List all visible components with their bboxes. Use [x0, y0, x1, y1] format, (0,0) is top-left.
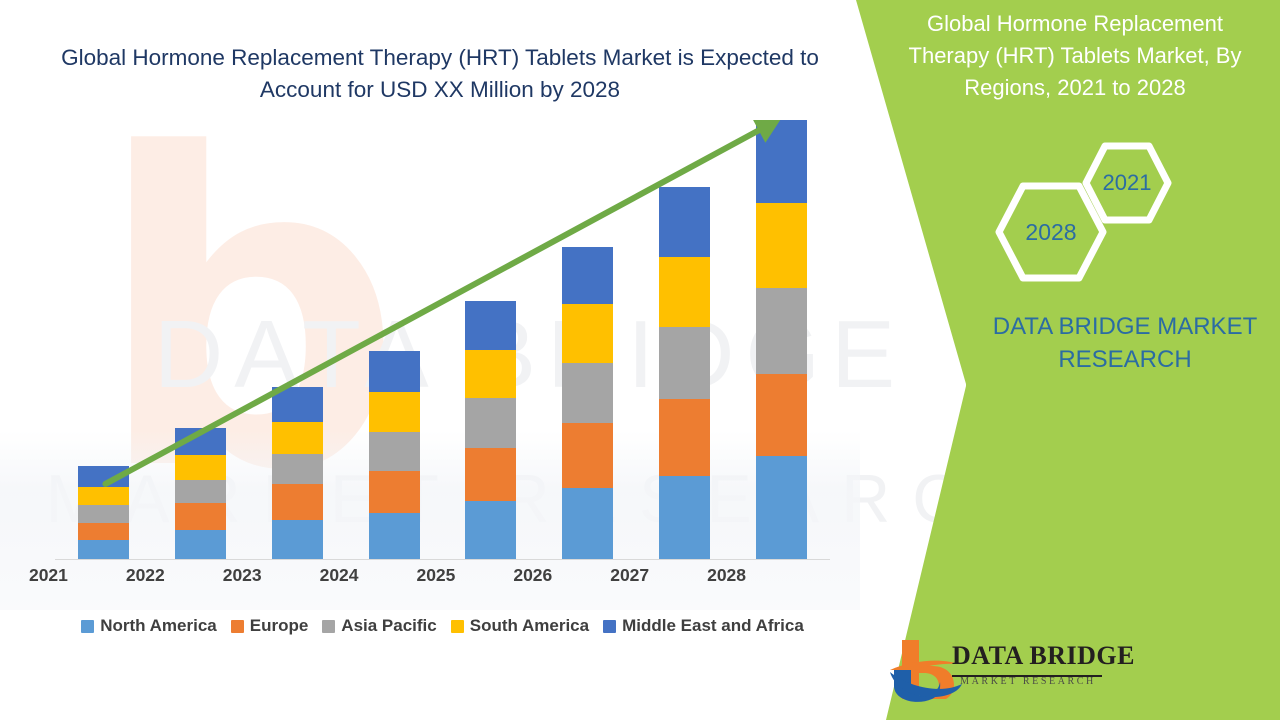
x-tick-2027: 2027: [581, 565, 678, 586]
bar-slot: [55, 120, 152, 559]
bar-segment: [369, 351, 420, 392]
bar-segment: [465, 448, 516, 501]
bar-segment: [659, 187, 710, 257]
bar-segment: [465, 350, 516, 398]
bar-segment: [78, 487, 129, 505]
bar-segment: [756, 288, 807, 374]
legend-item-middle-east-and-africa[interactable]: Middle East and Africa: [603, 616, 804, 636]
hexagon-label-2028: 2028: [1025, 219, 1076, 246]
legend-label: Middle East and Africa: [622, 616, 804, 636]
bar-segment: [272, 387, 323, 421]
x-tick-2022: 2022: [97, 565, 194, 586]
bar-segment: [562, 363, 613, 423]
bar-segment: [756, 456, 807, 559]
bar-segment: [465, 398, 516, 448]
bar-segment: [562, 488, 613, 559]
bar-segment: [562, 247, 613, 304]
legend-swatch-icon: [231, 620, 244, 633]
bar-segment: [272, 484, 323, 520]
legend-label: North America: [100, 616, 217, 636]
bar-slot: [443, 120, 540, 559]
stacked-bar-2027[interactable]: [659, 187, 710, 559]
bar-segment: [369, 471, 420, 513]
bar-segment: [756, 374, 807, 457]
bar-segment: [465, 301, 516, 350]
bar-segment: [78, 505, 129, 523]
bar-segment: [369, 513, 420, 559]
bar-segment: [562, 304, 613, 363]
x-tick-2021: 2021: [0, 565, 97, 586]
legend-swatch-icon: [322, 620, 335, 633]
bar-segment: [272, 454, 323, 485]
bar-segment: [175, 455, 226, 480]
bar-segment: [175, 480, 226, 504]
panel-title: Global Hormone Replacement Therapy (HRT)…: [885, 8, 1265, 104]
chart-title: Global Hormone Replacement Therapy (HRT)…: [40, 42, 840, 106]
legend-item-europe[interactable]: Europe: [231, 616, 309, 636]
legend-label: Asia Pacific: [341, 616, 436, 636]
x-tick-2028: 2028: [678, 565, 775, 586]
bar-segment: [756, 120, 807, 203]
bar-segment: [272, 520, 323, 559]
bar-slot: [249, 120, 346, 559]
hexagon-label-2021: 2021: [1103, 170, 1152, 196]
hexagon-badge-2021: 2021: [1082, 142, 1172, 224]
bar-slot: [152, 120, 249, 559]
stacked-bar-2022[interactable]: [175, 428, 226, 559]
bar-segment: [659, 327, 710, 399]
bar-slot: [539, 120, 636, 559]
bar-segment: [78, 523, 129, 541]
bar-segment: [78, 466, 129, 488]
legend-item-south-america[interactable]: South America: [451, 616, 589, 636]
chart-legend: North AmericaEuropeAsia PacificSouth Ame…: [55, 616, 830, 636]
x-axis-tick-labels: 20212022202320242025202620272028: [0, 565, 775, 586]
stacked-bar-2023[interactable]: [272, 387, 323, 559]
slide-canvas: b DATA BRIDGE MARKET RESEARCH Global Hor…: [0, 0, 1280, 720]
bar-slot: [733, 120, 830, 559]
bar-segment: [756, 203, 807, 288]
bar-slot: [636, 120, 733, 559]
legend-label: Europe: [250, 616, 309, 636]
legend-item-asia-pacific[interactable]: Asia Pacific: [322, 616, 436, 636]
logo-wordmark: DATA BRIDGE: [952, 641, 1135, 671]
stacked-bar-group: [55, 120, 830, 559]
legend-swatch-icon: [603, 620, 616, 633]
stacked-bar-2025[interactable]: [465, 301, 516, 559]
chart-plot-area: [55, 120, 830, 560]
stacked-bar-2024[interactable]: [369, 351, 420, 559]
stacked-bar-2021[interactable]: [78, 466, 129, 559]
bar-segment: [272, 422, 323, 454]
stacked-bar-2026[interactable]: [562, 247, 613, 559]
logo-subtitle: MARKET RESEARCH: [952, 676, 1104, 687]
legend-swatch-icon: [81, 620, 94, 633]
bar-segment: [659, 399, 710, 476]
stacked-bar-2028[interactable]: [756, 120, 807, 559]
x-tick-2026: 2026: [484, 565, 581, 586]
x-tick-2024: 2024: [291, 565, 388, 586]
bar-segment: [369, 392, 420, 432]
legend-label: South America: [470, 616, 589, 636]
legend-swatch-icon: [451, 620, 464, 633]
bar-segment: [175, 428, 226, 455]
brand-name: DATA BRIDGE MARKET RESEARCH: [955, 310, 1280, 376]
bar-slot: [346, 120, 443, 559]
bar-segment: [465, 501, 516, 559]
bar-segment: [659, 476, 710, 559]
x-tick-2023: 2023: [194, 565, 291, 586]
bar-segment: [369, 432, 420, 471]
x-tick-2025: 2025: [388, 565, 485, 586]
bar-segment: [78, 540, 129, 559]
bar-segment: [175, 503, 226, 529]
legend-item-north-america[interactable]: North America: [81, 616, 217, 636]
bar-segment: [562, 423, 613, 488]
bar-segment: [659, 257, 710, 327]
bar-segment: [175, 530, 226, 559]
x-axis-line: [55, 559, 830, 560]
